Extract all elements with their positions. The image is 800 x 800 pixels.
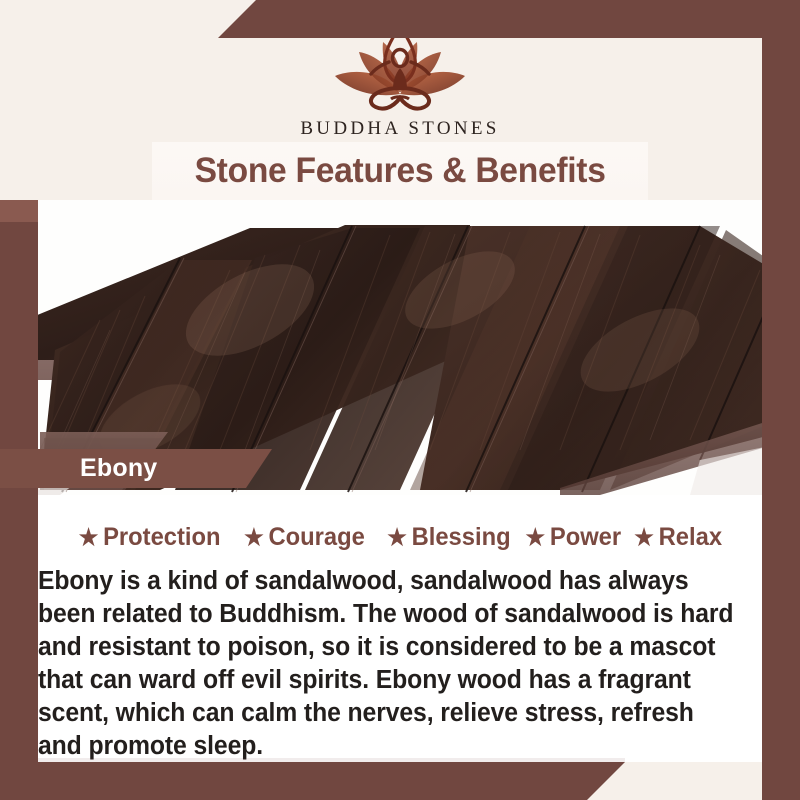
star-icon: ★ [387,526,407,549]
benefit-item-power: ★Power [525,523,621,552]
poster-root: BUDDHA STONES [0,0,800,800]
benefit-item-protection: ★Protection [79,523,221,552]
brand-name: BUDDHA STONES [300,118,499,140]
frame-left-cap [0,200,38,222]
frame-top-bar [218,0,800,38]
star-icon: ★ [79,526,99,549]
benefit-label: Blessing [411,523,510,552]
benefit-label: Protection [104,523,221,552]
title-banner: Stone Features & Benefits [152,142,648,200]
frame-bottom-bar [0,762,625,800]
star-icon: ★ [525,526,545,549]
benefit-label: Courage [268,523,364,552]
frame-corner-bottom-left [0,762,38,800]
benefit-label: Relax [659,523,722,552]
benefit-item-relax: ★Relax [635,523,723,552]
benefit-item-courage: ★Courage [244,523,365,552]
star-icon: ★ [244,526,264,549]
star-icon: ★ [635,526,655,549]
frame-right-bar [762,0,800,800]
page-title: Stone Features & Benefits [194,151,605,191]
product-name-tag: Ebony [0,449,272,488]
benefit-label: Power [549,523,620,552]
content-section: ★Protection ★Courage ★Blessing ★Power ★R… [0,495,800,762]
frame-bottom-shadow [0,758,625,762]
frame-left-bar [0,200,38,800]
benefit-item-blessing: ★Blessing [387,523,510,552]
product-name: Ebony [80,454,157,483]
benefits-row: ★Protection ★Courage ★Blessing ★Power ★R… [0,495,800,552]
brand-logo: BUDDHA STONES [0,22,800,140]
description-paragraph: Ebony is a kind of sandalwood, sandalwoo… [38,565,740,763]
